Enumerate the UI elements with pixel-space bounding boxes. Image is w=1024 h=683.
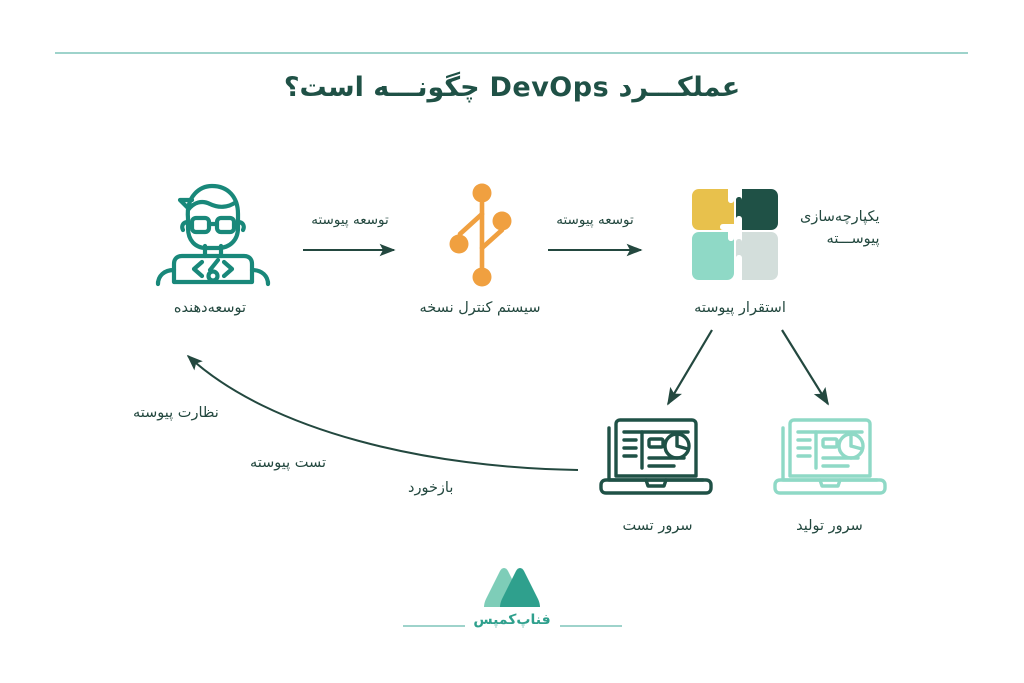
top-divider — [55, 52, 968, 54]
node-continuous-deployment[interactable] — [688, 186, 788, 286]
annotation-continuous-testing: تست پیوسته — [250, 452, 326, 474]
puzzle-piece-light-teal — [692, 232, 734, 280]
page-title: عملکـــرد DevOps چگونـــه است؟ — [0, 72, 1024, 103]
brand-logo — [480, 563, 544, 608]
annotation-continuous-integration: یکپارچه‌سازی پیوســـته — [800, 206, 880, 251]
puzzle-piece-dark-green — [736, 189, 778, 230]
infographic-canvas: عملکـــرد DevOps چگونـــه است؟ — [0, 0, 1024, 683]
brand-name: فناپ‌کمپس — [0, 612, 1024, 628]
puzzle-piece-yellow — [692, 189, 734, 230]
annotation-continuous-monitoring: نظارت پیوسته — [133, 402, 219, 424]
edge-feedback-curve — [188, 356, 578, 470]
node-production-server[interactable] — [770, 418, 890, 498]
git-branch-icon — [440, 180, 520, 290]
edge-label-dev-to-vcs: توسعه پیوسته — [290, 212, 410, 228]
laptop-dashboard-icon — [770, 418, 890, 498]
puzzle-piece-gray — [736, 232, 778, 280]
laptop-dashboard-icon — [596, 418, 716, 498]
annotation-feedback: بازخورد — [408, 477, 453, 499]
node-version-control[interactable] — [440, 180, 520, 290]
node-test-server[interactable] — [596, 418, 716, 498]
node-label-developer: توسعه‌دهنده — [130, 300, 290, 316]
edge-label-vcs-to-deploy: توسعه پیوسته — [535, 212, 655, 228]
annotation-ci-line-1: یکپارچه‌سازی — [800, 206, 880, 228]
edge-deploy-to-test-server — [668, 330, 712, 404]
node-developer[interactable] — [150, 178, 270, 290]
node-label-version-control: سیستم کنترل نسخه — [390, 300, 570, 316]
node-label-continuous-deployment: استقرار پیوسته — [650, 300, 830, 316]
annotation-ci-line-2: پیوســـته — [800, 228, 880, 250]
edge-deploy-to-prod-server — [782, 330, 828, 404]
puzzle-pieces-icon — [688, 186, 788, 286]
node-label-test-server: سرور تست — [580, 518, 735, 534]
mountains-logo-icon — [480, 563, 544, 608]
developer-icon — [150, 178, 270, 290]
node-label-production-server: سرور تولید — [752, 518, 907, 534]
